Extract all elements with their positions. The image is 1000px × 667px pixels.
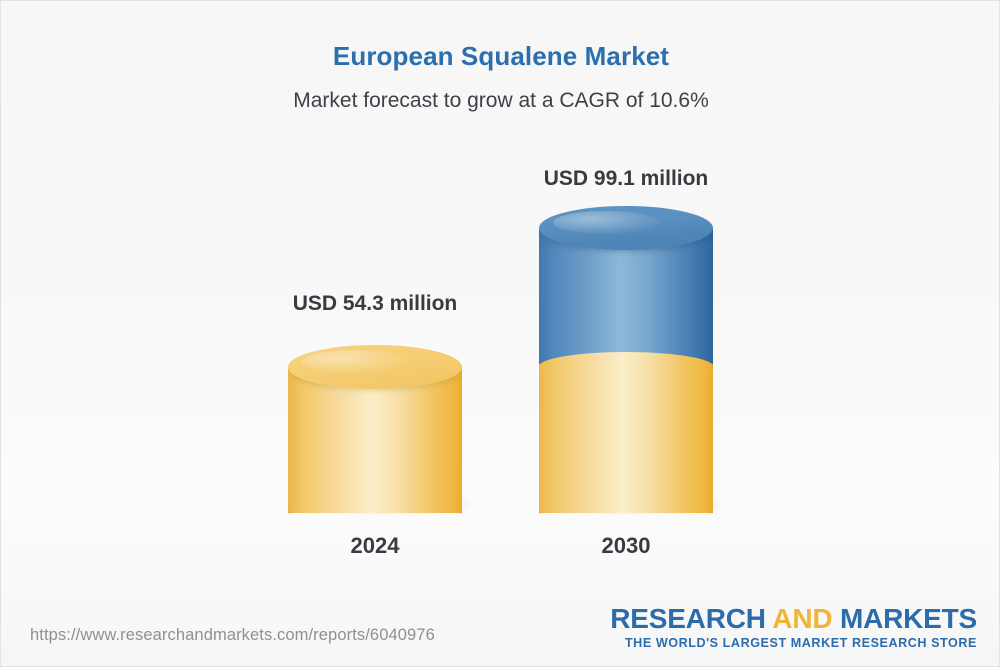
chart-subtitle: Market forecast to grow at a CAGR of 10.… [1, 89, 1000, 113]
value-label-2024: USD 54.3 million [259, 292, 491, 316]
report-url[interactable]: https://www.researchandmarkets.com/repor… [30, 626, 435, 645]
bar-cylinder-2030 [539, 206, 713, 513]
logo-word-and: AND [772, 603, 832, 634]
logo-tagline: THE WORLD'S LARGEST MARKET RESEARCH STOR… [610, 636, 977, 650]
category-label-2024: 2024 [288, 533, 462, 559]
cylinder-top-lid-2024 [288, 345, 462, 389]
logo-word-markets: MARKETS [840, 603, 977, 634]
value-label-2030: USD 99.1 million [510, 167, 742, 191]
chart-title: European Squalene Market [1, 41, 1000, 72]
cylinder-top-sheen-2030 [553, 211, 661, 234]
cylinder-top-sheen-2024 [302, 350, 410, 373]
brand-logo[interactable]: RESEARCH AND MARKETS THE WORLD'S LARGEST… [610, 604, 977, 650]
logo-wordmark: RESEARCH AND MARKETS [610, 604, 977, 633]
cylinder-top-lid-2030 [539, 206, 713, 250]
cylinder-body-2030 [539, 228, 713, 513]
category-label-2030: 2030 [539, 533, 713, 559]
chart-canvas: European Squalene Market Market forecast… [0, 0, 1000, 667]
logo-word-research: RESEARCH [610, 603, 766, 634]
bar-cylinder-2024 [288, 345, 462, 513]
